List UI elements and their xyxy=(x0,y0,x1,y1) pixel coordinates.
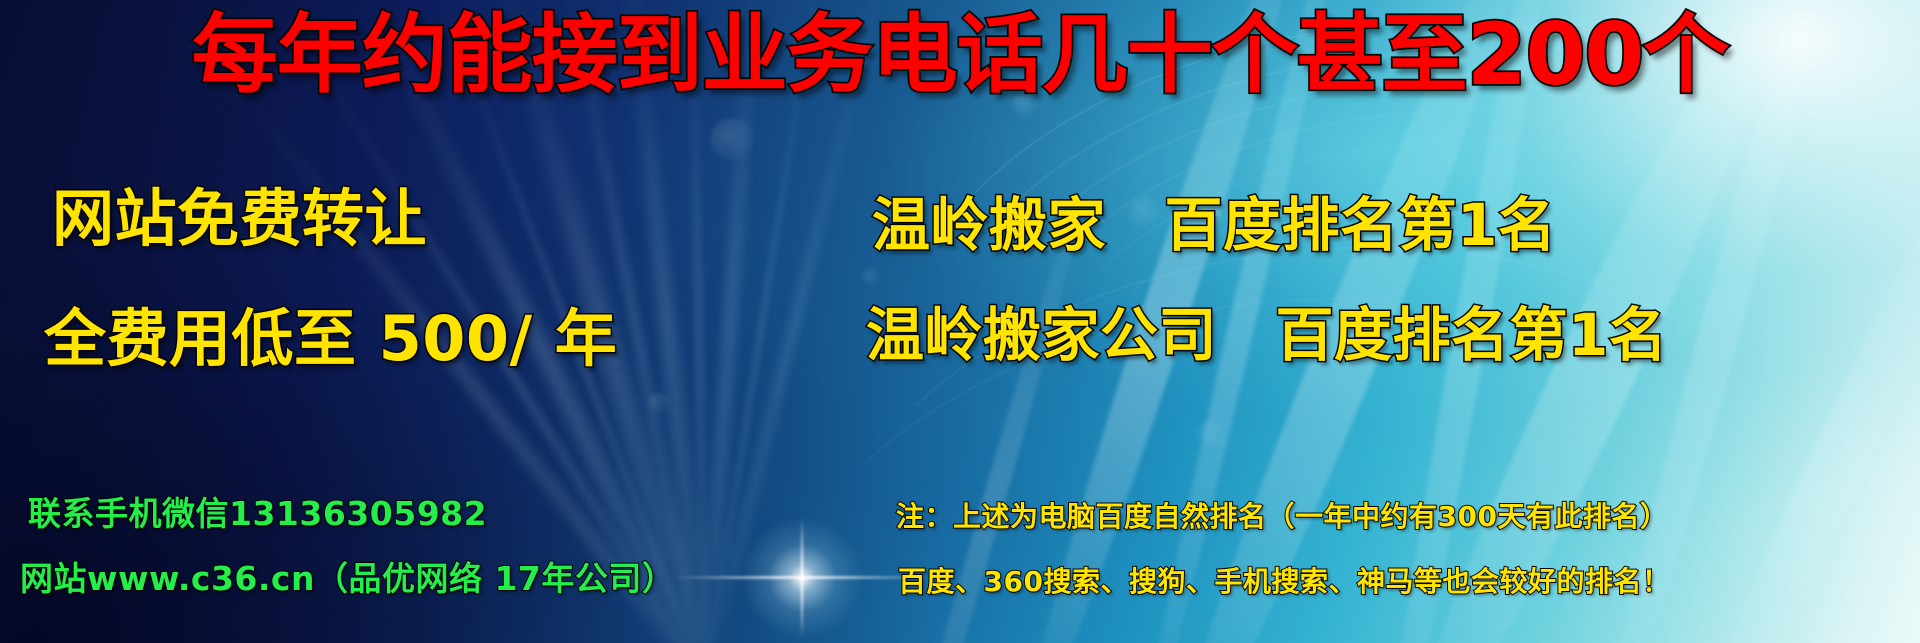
footnote-line-2: 百度、360搜索、搜狗、手机搜索、神马等也会较好的排名！ xyxy=(898,560,1670,600)
banner-content: 每年约能接到业务电话几十个甚至200个 网站免费转让 全费用低至 500/ 年 … xyxy=(0,0,1920,643)
headline-text: 每年约能接到业务电话几十个甚至200个 xyxy=(0,12,1920,98)
promo-right-line-2: 温岭搬家公司 百度排名第1名 xyxy=(866,288,1667,372)
contact-phone-wechat: 联系手机微信13136305982 xyxy=(28,487,487,535)
promo-banner: 每年约能接到业务电话几十个甚至200个 网站免费转让 全费用低至 500/ 年 … xyxy=(0,0,1920,643)
footnote-line-1: 注：上述为电脑百度自然排名（一年中约有300天有此排名） xyxy=(896,495,1668,535)
promo-left-line-1: 网站免费转让 xyxy=(52,168,427,258)
promo-left-line-2: 全费用低至 500/ 年 xyxy=(44,288,617,378)
contact-website: 网站www.c36.cn（品优网络 17年公司） xyxy=(20,552,675,600)
promo-right-line-1: 温岭搬家 百度排名第1名 xyxy=(872,178,1556,262)
